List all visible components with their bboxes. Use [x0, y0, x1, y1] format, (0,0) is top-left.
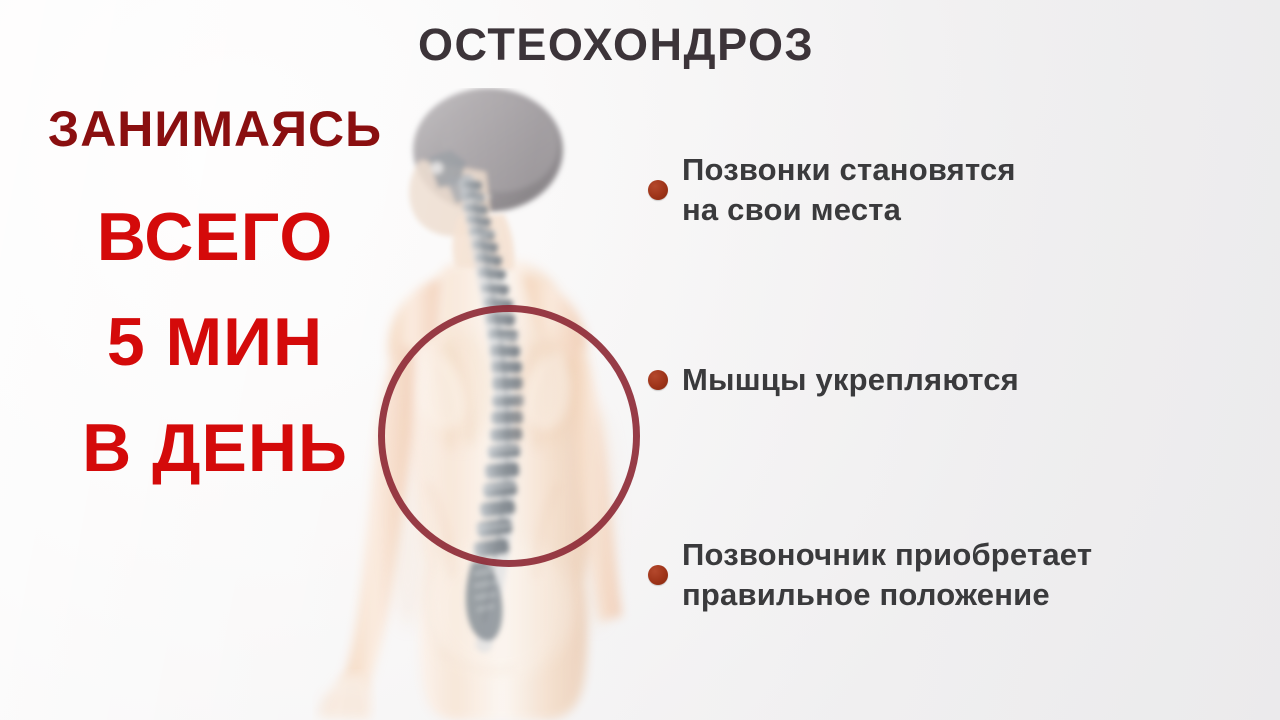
- benefit-text: Позвонки становятся на свои места: [682, 150, 1016, 229]
- list-item: Позвонки становятся на свои места: [648, 150, 1016, 229]
- promo-line-3: 5 МИН: [0, 308, 430, 377]
- benefit-text: Мышцы укрепляются: [682, 360, 1019, 400]
- list-item: Мышцы укрепляются: [648, 360, 1019, 400]
- promo-block: ЗАНИМАЯСЬ ВСЕГО 5 МИН В ДЕНЬ: [0, 104, 430, 483]
- promo-line-2: ВСЕГО: [0, 203, 430, 272]
- promo-line-4: В ДЕНЬ: [0, 414, 430, 483]
- bullet-dot-icon: [648, 370, 668, 390]
- poster-canvas: ОСТЕОХОНДРОЗ ЗАНИМАЯСЬ ВСЕГО 5 МИН В ДЕН…: [0, 0, 1280, 720]
- bullet-dot-icon: [648, 565, 668, 585]
- page-title: ОСТЕОХОНДРОЗ: [418, 22, 814, 67]
- promo-line-1: ЗАНИМАЯСЬ: [0, 104, 430, 155]
- benefit-text: Позвоночник приобретает правильное полож…: [682, 535, 1092, 614]
- list-item: Позвоночник приобретает правильное полож…: [648, 535, 1092, 614]
- bullet-dot-icon: [648, 180, 668, 200]
